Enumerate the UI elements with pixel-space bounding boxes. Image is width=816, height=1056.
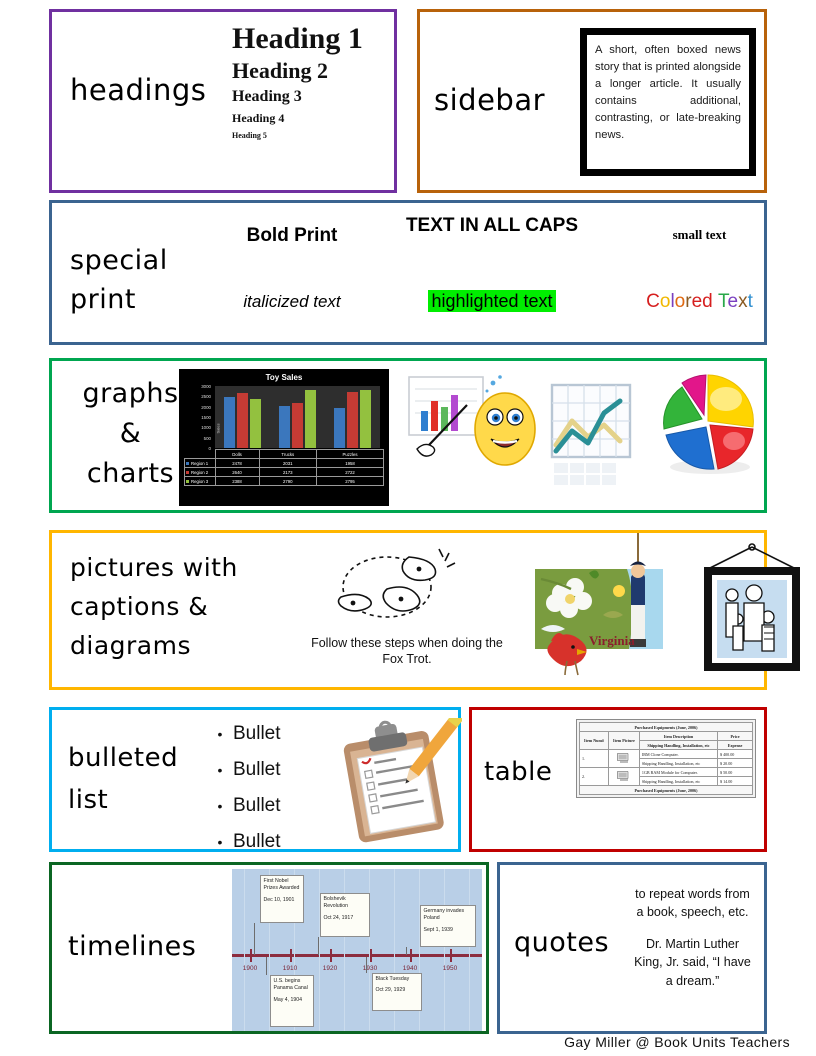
bar [347, 392, 358, 448]
bar [237, 393, 248, 448]
worksheet-page: headings Heading 1 Heading 2 Heading 3 H… [0, 0, 816, 1056]
legend-cell: Region 1 [185, 459, 216, 468]
list-item-label: Bullet [233, 723, 281, 745]
table-cell: 2790 [259, 477, 316, 486]
bar [250, 399, 261, 448]
quotes-example-text: to repeat words from a book, speech, etc… [630, 885, 755, 990]
table-cell: Expense [718, 741, 753, 750]
sample-all-caps: TEXT IN ALL CAPS [397, 213, 587, 239]
timeline-event-title: Germany invades Poland [424, 908, 473, 923]
timeline-year-label: 1900 [243, 965, 257, 972]
table-cell: Shipping Handling, Installation, etc [639, 777, 717, 786]
table-cell: 2031 [259, 459, 316, 468]
table-row: Purchased Equipments (June, 2006) [580, 786, 753, 795]
list-item-label: Bullet [233, 795, 281, 817]
table-cell: $ 14.00 [718, 777, 753, 786]
timeline-event-date: Dec 10, 1901 [264, 897, 301, 904]
graphs-label-line-2: & [68, 414, 193, 454]
timeline-stem [254, 923, 255, 955]
timeline-stem [406, 947, 407, 955]
colored-letter-11: t [748, 291, 753, 312]
sidebar-example-text: A short, often boxed news story that is … [587, 35, 749, 151]
page-footer-credit: Gay Miller @ Book Units Teachers [0, 1034, 790, 1050]
ytick: 1500 [179, 415, 211, 420]
colored-letter-9: e [728, 291, 739, 312]
timeline-tick [330, 949, 332, 962]
timeline-gridline [244, 869, 245, 1031]
quote-definition: to repeat words from a book, speech, etc… [630, 885, 755, 921]
colored-letter-8: T [718, 291, 728, 312]
table-row: Purchased Equipments (June, 2006) [580, 723, 753, 732]
bullet-icon: • [207, 726, 233, 742]
table-cell: Purchased Equipments (June, 2006) [580, 786, 753, 795]
table-cell [608, 768, 639, 786]
item-thumbnail-icon [616, 752, 632, 764]
table-cell: Puzzles [316, 450, 383, 459]
table-row: Region 2264021732722 [185, 468, 384, 477]
colored-letter-5: e [692, 291, 703, 312]
timeline-year-label: 1950 [443, 965, 457, 972]
ytick: 500 [179, 436, 211, 441]
special-label-line-2: print [70, 280, 168, 319]
timeline-year-label: 1930 [363, 965, 377, 972]
bar [360, 390, 371, 448]
bullets-label-line-1: bulleted [68, 738, 208, 780]
framed-family-picture [692, 543, 812, 683]
table-cell: Shipping Handling, Installation, etc [639, 741, 717, 750]
bar-group [334, 386, 371, 448]
table-cell: $ 20.00 [718, 759, 753, 768]
timeline-tick [450, 949, 452, 962]
table-row: 2.1GB RAM Module for Computer.$ 50.00 [580, 768, 753, 777]
section-headings: headings Heading 1 Heading 2 Heading 3 H… [49, 9, 397, 193]
bullet-icon: • [207, 798, 233, 814]
colored-letter-6: d [702, 291, 713, 312]
graphs-label-line-1: graphs [68, 374, 193, 414]
timeline-event-date: May 4, 1904 [274, 997, 311, 1004]
bar-chart-plot: Sales [215, 386, 380, 448]
bar [305, 390, 316, 448]
table-cell: 2478 [215, 459, 259, 468]
table-cell: 2173 [259, 468, 316, 477]
timeline-stem [318, 937, 319, 955]
table-cell: Dolls [215, 450, 259, 459]
timeline-event-date: Oct 24, 1917 [324, 915, 367, 922]
section-headings-label: headings [70, 74, 206, 107]
table-cell: 1GB RAM Module for Computer. [639, 768, 717, 777]
purchased-equipment-table: Purchased Equipments (June, 2006)Item Nu… [579, 722, 753, 795]
timeline-event-card: Germany invades PolandSept 1, 1939 [420, 905, 476, 947]
table-cell: Item Picture [608, 732, 639, 750]
timeline-gridline [469, 869, 470, 1031]
map-caption: Virginia [589, 633, 635, 648]
table-cell [608, 750, 639, 768]
timeline-year-label: 1910 [283, 965, 297, 972]
table-cell: 2388 [215, 477, 259, 486]
section-special-print: special print Bold Print TEXT IN ALL CAP… [49, 200, 767, 345]
timeline-event-card: Black TuesdayOct 29, 1929 [372, 973, 422, 1011]
table-cell: Shipping Handling, Installation, etc [639, 759, 717, 768]
sample-colored-text: Colored Text [612, 291, 787, 313]
timeline-tick [250, 949, 252, 962]
section-bulleted-list-label: bulleted list [68, 738, 208, 821]
colored-letter-0: C [646, 291, 660, 312]
item-thumbnail-icon [616, 770, 632, 782]
section-sidebar: sidebar A short, often boxed news story … [417, 9, 767, 193]
clipboard-checklist-icon [332, 718, 462, 846]
list-item-label: Bullet [233, 831, 281, 853]
table-cell: 2722 [316, 468, 383, 477]
heading-sample-2: Heading 2 [232, 58, 392, 84]
timeline-event-card: Bolshevik RevolutionOct 24, 1917 [320, 893, 370, 937]
bullet-icon: • [207, 834, 233, 850]
table-row: Item Num#Item PictureItem DescriptionPri… [580, 732, 753, 741]
timeline-gridline [444, 869, 445, 1031]
ytick: 2000 [179, 405, 211, 410]
sidebar-example-box: A short, often boxed news story that is … [580, 28, 756, 176]
section-table: table Purchased Equipments (June, 2006)I… [469, 707, 767, 852]
section-timelines: timelines 190019101920193019401950First … [49, 862, 489, 1034]
legend-cell: Region 2 [185, 468, 216, 477]
heading-sample-3: Heading 3 [232, 87, 392, 107]
table-row: Region 1247820311958 [185, 459, 384, 468]
timeline-event-title: First Nobel Prizes Awarded [264, 878, 301, 893]
table-cell: $ 50.00 [718, 768, 753, 777]
timeline-stem [266, 957, 267, 975]
timeline-example-image: 190019101920193019401950First Nobel Priz… [232, 869, 482, 1031]
section-pictures-captions: pictures with captions & diagrams Follow… [49, 530, 767, 690]
legend-cell: Region 3 [185, 477, 216, 486]
pictures-label-line-1: pictures with [70, 549, 320, 588]
headings-sample-stack: Heading 1 Heading 2 Heading 3 Heading 4 … [232, 22, 392, 141]
timeline-event-title: Black Tuesday [376, 976, 419, 983]
table-cell: 2795 [316, 477, 383, 486]
section-pictures-label: pictures with captions & diagrams [70, 549, 320, 665]
pictures-label-line-2: captions & [70, 588, 320, 627]
footsteps-diagram [317, 545, 497, 635]
list-item: •Bullet [207, 716, 337, 752]
bullets-label-line-2: list [68, 780, 208, 822]
table-row: DollsTrucksPuzzles [185, 450, 384, 459]
bar [279, 406, 290, 448]
bar-chart-data-table: DollsTrucksPuzzlesRegion 1247820311958Re… [184, 449, 384, 486]
highlight-span: highlighted text [428, 290, 555, 312]
timeline-event-card: U.S. begins Panama CanalMay 4, 1904 [270, 975, 314, 1027]
timeline-event-card: First Nobel Prizes AwardedDec 10, 1901 [260, 875, 304, 923]
bullet-items: •Bullet•Bullet•Bullet•Bullet [207, 716, 337, 860]
list-item: •Bullet [207, 824, 337, 860]
section-bulleted-list: bulleted list •Bullet•Bullet•Bullet•Bull… [49, 707, 461, 852]
table-cell: 2. [580, 768, 609, 786]
sample-italic-text: italicized text [202, 292, 382, 312]
table-example-image: Purchased Equipments (June, 2006)Item Nu… [576, 719, 756, 798]
table-cell: Trucks [259, 450, 316, 459]
section-graphs-charts-label: graphs & charts [68, 374, 193, 494]
ytick: 1000 [179, 425, 211, 430]
bar-group [279, 386, 316, 448]
timeline-year-label: 1920 [323, 965, 337, 972]
section-sidebar-label: sidebar [434, 84, 545, 117]
bar [334, 408, 345, 448]
quote-example: Dr. Martin Luther King, Jr. said, “I hav… [630, 935, 755, 989]
table-cell: 1958 [316, 459, 383, 468]
section-timelines-label: timelines [68, 931, 196, 962]
bar-chart-example: Toy Sales Sales 300025002000150010005000… [179, 369, 389, 506]
sample-small-text: small text [612, 227, 787, 243]
table-cell: Item Description [639, 732, 717, 741]
sample-highlighted-text: highlighted text [397, 291, 587, 312]
table-cell: Purchased Equipments (June, 2006) [580, 723, 753, 732]
list-item: •Bullet [207, 788, 337, 824]
sample-bold-print: Bold Print [202, 225, 382, 247]
timeline-event-title: Bolshevik Revolution [324, 896, 367, 911]
bar-chart-ylabel: Sales [216, 423, 221, 433]
virginia-map-illustration: Virginia [527, 533, 672, 689]
heading-sample-5: Heading 5 [232, 131, 392, 141]
heading-sample-1: Heading 1 [232, 22, 392, 56]
list-item-label: Bullet [233, 759, 281, 781]
table-cell: 2640 [215, 468, 259, 477]
table-cell: $ 400.00 [718, 750, 753, 759]
ytick: 3000 [179, 384, 211, 389]
table-row: Region 3238827902795 [185, 477, 384, 486]
foxtrot-caption: Follow these steps when doing the Fox Tr… [302, 636, 512, 667]
bar [292, 403, 303, 448]
table-cell: 1. [580, 750, 609, 768]
section-quotes: quotes to repeat words from a book, spee… [497, 862, 767, 1034]
timeline-event-title: U.S. begins Panama Canal [274, 978, 311, 993]
section-graphs-charts: graphs & charts Toy Sales Sales 30002500… [49, 358, 767, 513]
pictures-label-line-3: diagrams [70, 627, 320, 666]
timeline-event-date: Sept 1, 1939 [424, 927, 473, 934]
bar-group [224, 386, 261, 448]
table-row: 1.IBM Clone Computer.$ 400.00 [580, 750, 753, 759]
timeline-year-label: 1940 [403, 965, 417, 972]
table-cell: Item Num# [580, 732, 609, 750]
timeline-tick [410, 949, 412, 962]
colored-letter-3: o [675, 291, 686, 312]
bar-chart-title: Toy Sales [179, 373, 389, 382]
graphs-label-line-3: charts [68, 454, 193, 494]
table-cell: IBM Clone Computer. [639, 750, 717, 759]
colored-letter-1: o [660, 291, 671, 312]
pie-chart-icon [652, 369, 764, 481]
timeline-stem [366, 957, 367, 973]
section-table-label: table [484, 758, 552, 788]
section-special-print-label: special print [70, 241, 168, 319]
table-cell: Price [718, 732, 753, 741]
bullet-icon: • [207, 762, 233, 778]
list-item: •Bullet [207, 752, 337, 788]
special-label-line-1: special [70, 241, 168, 280]
section-quotes-label: quotes [514, 927, 609, 958]
colored-letter-10: x [738, 291, 748, 312]
timeline-tick [290, 949, 292, 962]
timeline-event-date: Oct 29, 1929 [376, 987, 419, 994]
presenter-smiley-illustration [407, 371, 537, 503]
ytick: 2500 [179, 394, 211, 399]
heading-sample-4: Heading 4 [232, 111, 392, 127]
timeline-tick [370, 949, 372, 962]
bar [224, 397, 235, 448]
line-chart-icon [549, 379, 635, 497]
